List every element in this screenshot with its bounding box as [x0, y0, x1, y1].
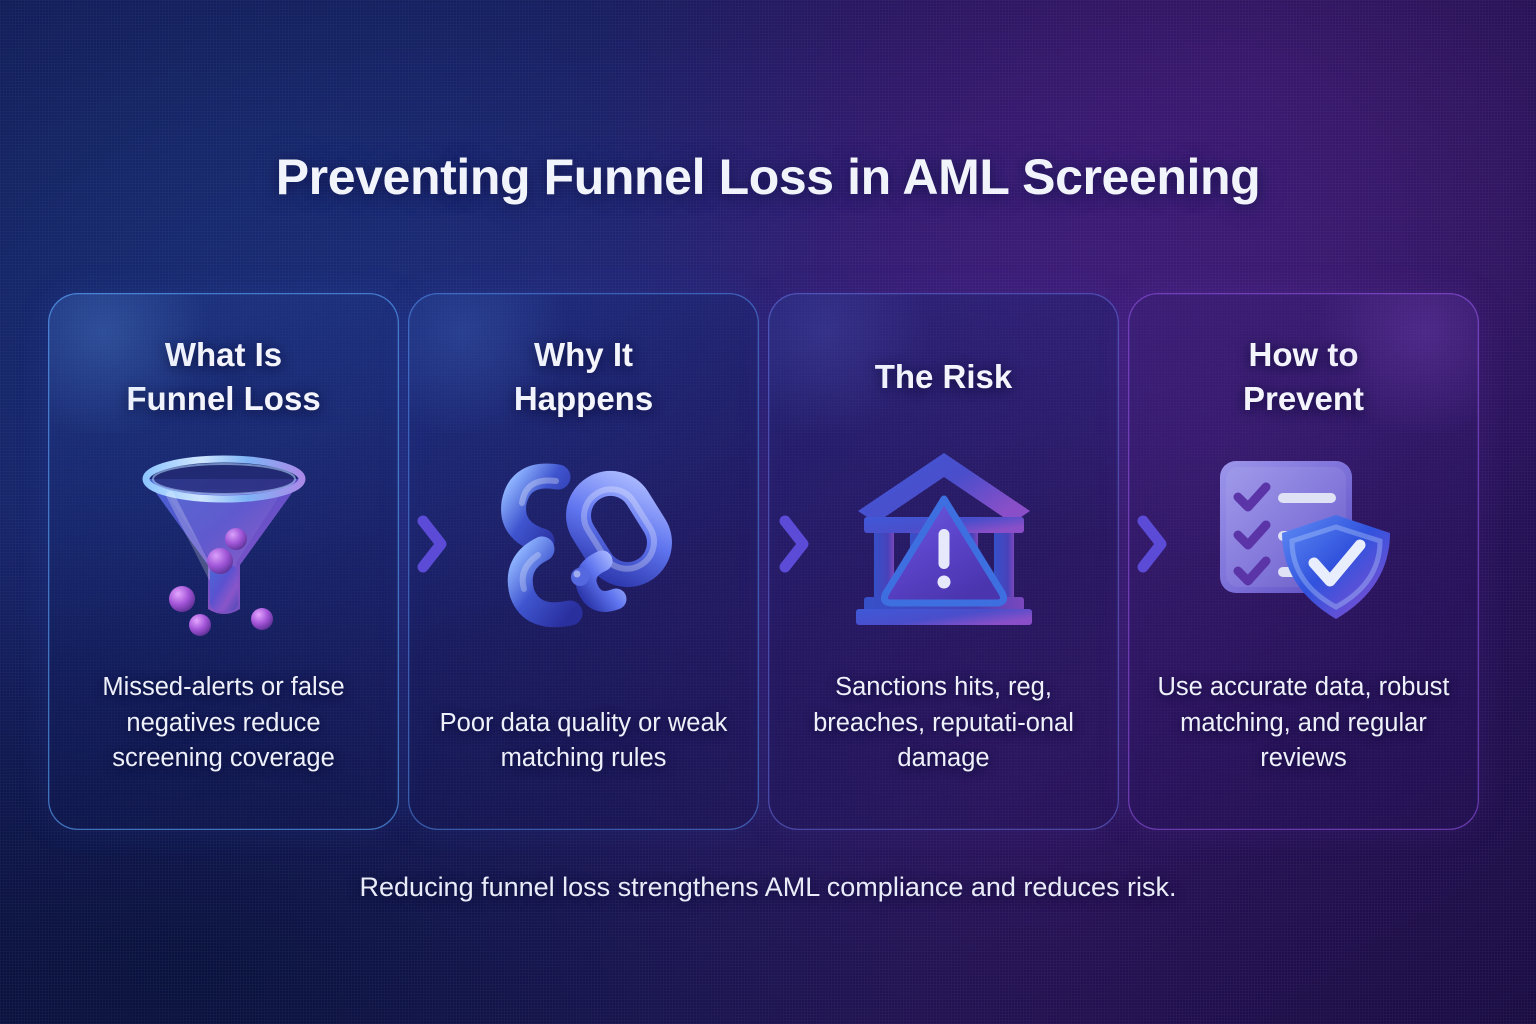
card-body-text: Use accurate data, robust matching, and …	[1150, 670, 1457, 776]
funnel-icon	[121, 437, 326, 637]
card-body-text: Poor data quality or weak matching rules	[430, 706, 737, 776]
card-title: What Is Funnel Loss	[126, 331, 320, 423]
card-what-is-funnel-loss[interactable]: What Is Funnel Loss	[48, 293, 399, 830]
card-title-line-2: Prevent	[1243, 377, 1364, 421]
card-why-it-happens[interactable]: Why It Happens	[408, 293, 759, 830]
card-how-to-prevent[interactable]: How to Prevent	[1128, 293, 1479, 830]
card-the-risk[interactable]: The Risk	[768, 293, 1119, 830]
card-title: The Risk	[875, 331, 1013, 423]
chevron-right-icon	[415, 513, 449, 575]
card-title: Why It Happens	[514, 331, 653, 423]
checklist-shield-icon	[1201, 437, 1406, 637]
card-title-line-1: What Is	[126, 333, 320, 377]
card-title-line-2: Funnel Loss	[126, 377, 320, 421]
card-title-line-2: Happens	[514, 377, 653, 421]
infographic-canvas: Preventing Funnel Loss in AML Screening …	[0, 0, 1536, 1024]
chevron-right-icon	[777, 513, 811, 575]
card-body-text: Sanctions hits, reg, breaches, reputati-…	[790, 670, 1097, 776]
cards-row: What Is Funnel Loss	[48, 293, 1488, 830]
card-title: How to Prevent	[1243, 331, 1364, 423]
page-title: Preventing Funnel Loss in AML Screening	[0, 148, 1536, 206]
card-title-line-1: The Risk	[875, 355, 1013, 399]
footer-note: Reducing funnel loss strengthens AML com…	[0, 872, 1536, 903]
bank-warning-icon	[841, 437, 1046, 637]
broken-chain-link-icon	[481, 437, 686, 637]
chevron-right-icon	[1135, 513, 1169, 575]
card-title-line-1: How to	[1243, 333, 1364, 377]
card-body-text: Missed-alerts or false negatives reduce …	[70, 670, 377, 776]
card-title-line-1: Why It	[514, 333, 653, 377]
